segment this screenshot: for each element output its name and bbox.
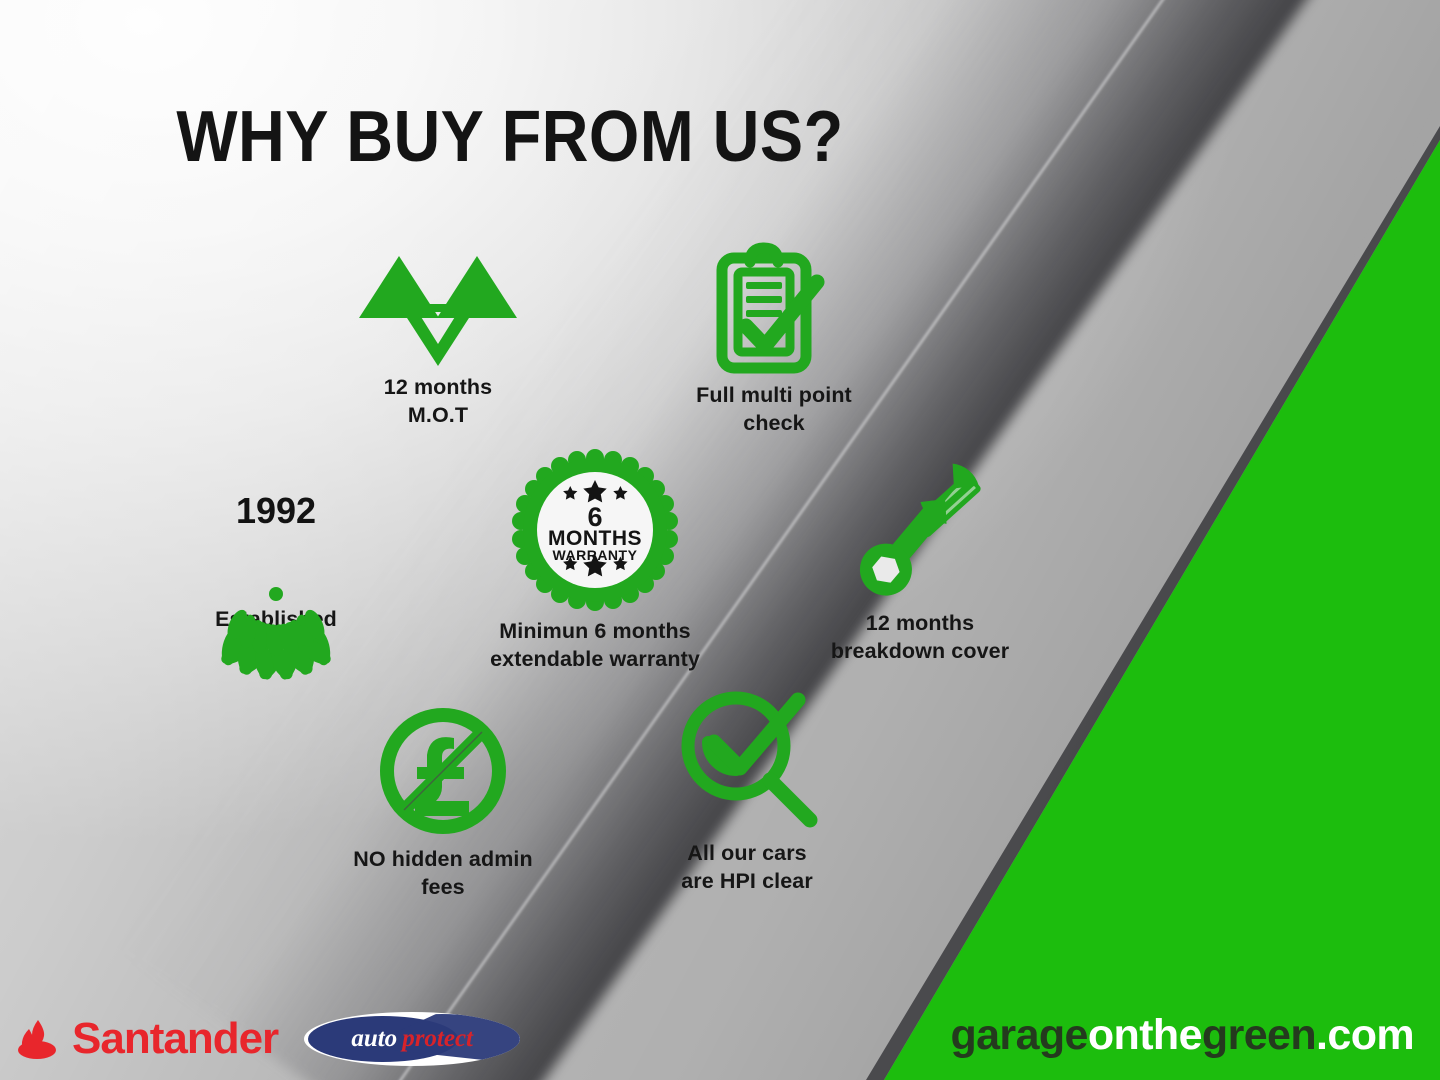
feature-hpi-clear-label: All our cars are HPI clear <box>612 840 882 895</box>
footer-partners: Santander auto protect <box>16 1012 520 1066</box>
website-part-onthe: onthe <box>1088 1011 1202 1059</box>
feature-established: 1992 Established <box>152 460 400 634</box>
feature-no-admin-fees: NO hidden admin fees <box>320 704 566 901</box>
santander-logo: Santander <box>16 1016 278 1062</box>
clipboard-check-icon <box>640 240 908 382</box>
magnifier-check-icon <box>612 696 882 830</box>
santander-flame-icon <box>16 1016 62 1062</box>
warranty-badge-icon: 6 MONTHS WARRANTY <box>460 452 730 612</box>
page-title: WHY BUY FROM US? <box>0 96 1440 178</box>
badge-warranty: WARRANTY <box>553 547 638 563</box>
website-part-garage: garage <box>950 1011 1087 1059</box>
established-year: 1992 <box>176 490 376 532</box>
website-wordmark[interactable]: garageonthegreen.com <box>950 1011 1414 1060</box>
laurel-wreath-icon: 1992 <box>152 460 400 610</box>
feature-warranty: 6 MONTHS WARRANTY Minimun 6 months exten… <box>460 452 730 673</box>
website-part-green: green <box>1202 1011 1316 1059</box>
feature-mot: 12 months M.O.T <box>318 248 558 429</box>
page-title-text: WHY BUY FROM US? <box>51 96 969 178</box>
feature-breakdown-cover: 12 months breakdown cover <box>790 446 1050 665</box>
feature-no-admin-fees-label: NO hidden admin fees <box>320 846 566 901</box>
feature-warranty-label: Minimun 6 months extendable warranty <box>460 618 730 673</box>
autoprotect-protect-text: protect <box>402 1025 473 1053</box>
feature-multi-point-check-label: Full multi point check <box>640 382 908 437</box>
wrench-screwdriver-icon <box>790 446 1050 608</box>
no-pound-fees-icon <box>320 704 566 838</box>
mot-triangles-icon <box>318 248 558 370</box>
feature-breakdown-cover-label: 12 months breakdown cover <box>790 610 1050 665</box>
feature-hpi-clear: All our cars are HPI clear <box>612 696 882 895</box>
santander-wordmark: Santander <box>72 1017 278 1061</box>
autoprotect-logo: auto protect <box>304 1012 520 1066</box>
feature-mot-label: 12 months M.O.T <box>318 374 558 429</box>
website-part-com: .com <box>1316 1011 1414 1059</box>
autoprotect-auto-text: auto <box>351 1025 397 1053</box>
feature-multi-point-check: Full multi point check <box>640 240 908 437</box>
